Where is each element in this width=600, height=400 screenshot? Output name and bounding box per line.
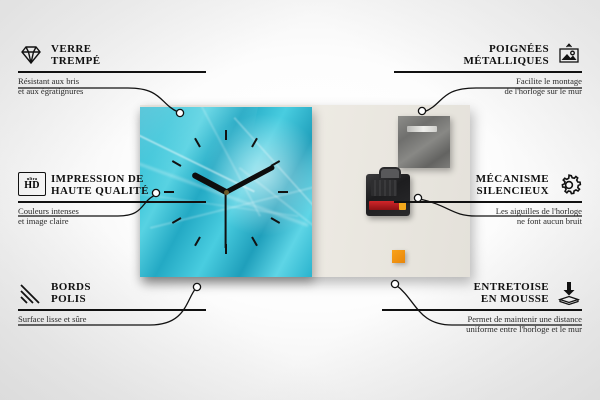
callout-header: MÉCANISME SILENCIEUX bbox=[394, 172, 582, 198]
clock-tick bbox=[225, 130, 227, 192]
hanger-slot bbox=[407, 126, 437, 132]
callout-description: Couleurs intenses et image claire bbox=[18, 206, 206, 227]
polished-edges-icon bbox=[18, 280, 44, 306]
callout-rule bbox=[382, 309, 582, 311]
infographic-canvas: VERRE TREMPÉ Résistant aux bris et aux é… bbox=[0, 0, 600, 400]
gear-icon bbox=[556, 172, 582, 198]
callout-desc-line1: Couleurs intenses bbox=[18, 206, 79, 216]
diamond-icon bbox=[18, 42, 44, 68]
callout-description: Résistant aux bris et aux égratignures bbox=[18, 76, 206, 97]
callout-title: MÉCANISME SILENCIEUX bbox=[476, 173, 549, 198]
callout-rule bbox=[394, 201, 582, 203]
callout-desc-line2: ne font aucun bruit bbox=[517, 216, 582, 226]
callout-header: VERRE TREMPÉ bbox=[18, 42, 206, 68]
ultra-hd-icon-large-text: HD bbox=[24, 181, 40, 191]
callout-title: ENTRETOISE EN MOUSSE bbox=[474, 281, 549, 306]
callout-title-line1: ENTRETOISE bbox=[474, 281, 549, 293]
callout-description: Facilite le montage de l'horloge sur le … bbox=[394, 76, 582, 97]
framed-picture-hanging-icon bbox=[556, 42, 582, 68]
callout-mecanisme-silencieux[interactable]: MÉCANISME SILENCIEUX Les aiguilles de l'… bbox=[394, 172, 582, 226]
callout-desc-line2: et image claire bbox=[18, 216, 69, 226]
callout-header: ENTRETOISE EN MOUSSE bbox=[382, 280, 582, 306]
callout-title: IMPRESSION DE HAUTE QUALITÉ bbox=[51, 173, 149, 198]
callout-description: Les aiguilles de l'horloge ne font aucun… bbox=[394, 206, 582, 227]
callout-title: VERRE TREMPÉ bbox=[51, 43, 100, 68]
callout-entretoise-en-mousse[interactable]: ENTRETOISE EN MOUSSE Permet de maintenir… bbox=[382, 280, 582, 334]
callout-title-line2: SILENCIEUX bbox=[477, 185, 549, 197]
callout-desc-line2: de l'horloge sur le mur bbox=[505, 86, 582, 96]
callout-title: POIGNÉES MÉTALLIQUES bbox=[464, 43, 550, 68]
callout-verre-trempe[interactable]: VERRE TREMPÉ Résistant aux bris et aux é… bbox=[18, 42, 206, 96]
clock-tick bbox=[226, 191, 288, 193]
foam-spacer-icon bbox=[556, 280, 582, 306]
callout-bords-polis[interactable]: BORDS POLIS Surface lisse et sûre bbox=[18, 280, 206, 324]
callout-desc-line1: Facilite le montage bbox=[516, 76, 582, 86]
callout-desc-line1: Permet de maintenir une distance bbox=[467, 314, 582, 324]
clock-second-hand bbox=[225, 192, 227, 248]
callout-description: Permet de maintenir une distance uniform… bbox=[382, 314, 582, 335]
callout-title-line2: MÉTALLIQUES bbox=[464, 55, 550, 67]
callout-title-line1: VERRE bbox=[51, 43, 92, 55]
callout-impression-haute-qualite[interactable]: ultra HD IMPRESSION DE HAUTE QUALITÉ Cou… bbox=[18, 172, 206, 226]
callout-title: BORDS POLIS bbox=[51, 281, 91, 306]
clock-hand-hub bbox=[224, 190, 229, 195]
callout-rule bbox=[394, 71, 582, 73]
callout-title-line1: IMPRESSION DE bbox=[51, 173, 144, 185]
callout-header: BORDS POLIS bbox=[18, 280, 206, 306]
callout-title-line2: EN MOUSSE bbox=[481, 293, 549, 305]
callout-title-line2: TREMPÉ bbox=[51, 55, 100, 67]
foam-spacer-accessory bbox=[392, 250, 405, 263]
ultra-hd-icon: ultra HD bbox=[18, 172, 44, 198]
callout-title-line2: HAUTE QUALITÉ bbox=[51, 185, 149, 197]
callout-rule bbox=[18, 71, 206, 73]
callout-description: Surface lisse et sûre bbox=[18, 314, 206, 324]
callout-title-line1: BORDS bbox=[51, 281, 91, 293]
callout-desc-line1: Résistant aux bris bbox=[18, 76, 79, 86]
metal-hanger-accessory bbox=[398, 116, 450, 168]
callout-header: ultra HD IMPRESSION DE HAUTE QUALITÉ bbox=[18, 172, 206, 198]
callout-desc-line1: Les aiguilles de l'horloge bbox=[496, 206, 582, 216]
callout-desc-line2: et aux égratignures bbox=[18, 86, 83, 96]
callout-poignees-metalliques[interactable]: POIGNÉES MÉTALLIQUES Facilite le montage… bbox=[394, 42, 582, 96]
callout-rule bbox=[18, 309, 206, 311]
callout-title-line1: POIGNÉES bbox=[489, 43, 549, 55]
callout-header: POIGNÉES MÉTALLIQUES bbox=[394, 42, 582, 68]
callout-title-line2: POLIS bbox=[51, 293, 86, 305]
callout-desc-line2: uniforme entre l'horloge et le mur bbox=[466, 324, 582, 334]
callout-rule bbox=[18, 201, 206, 203]
callout-title-line1: MÉCANISME bbox=[476, 173, 549, 185]
callout-desc-line1: Surface lisse et sûre bbox=[18, 314, 87, 324]
